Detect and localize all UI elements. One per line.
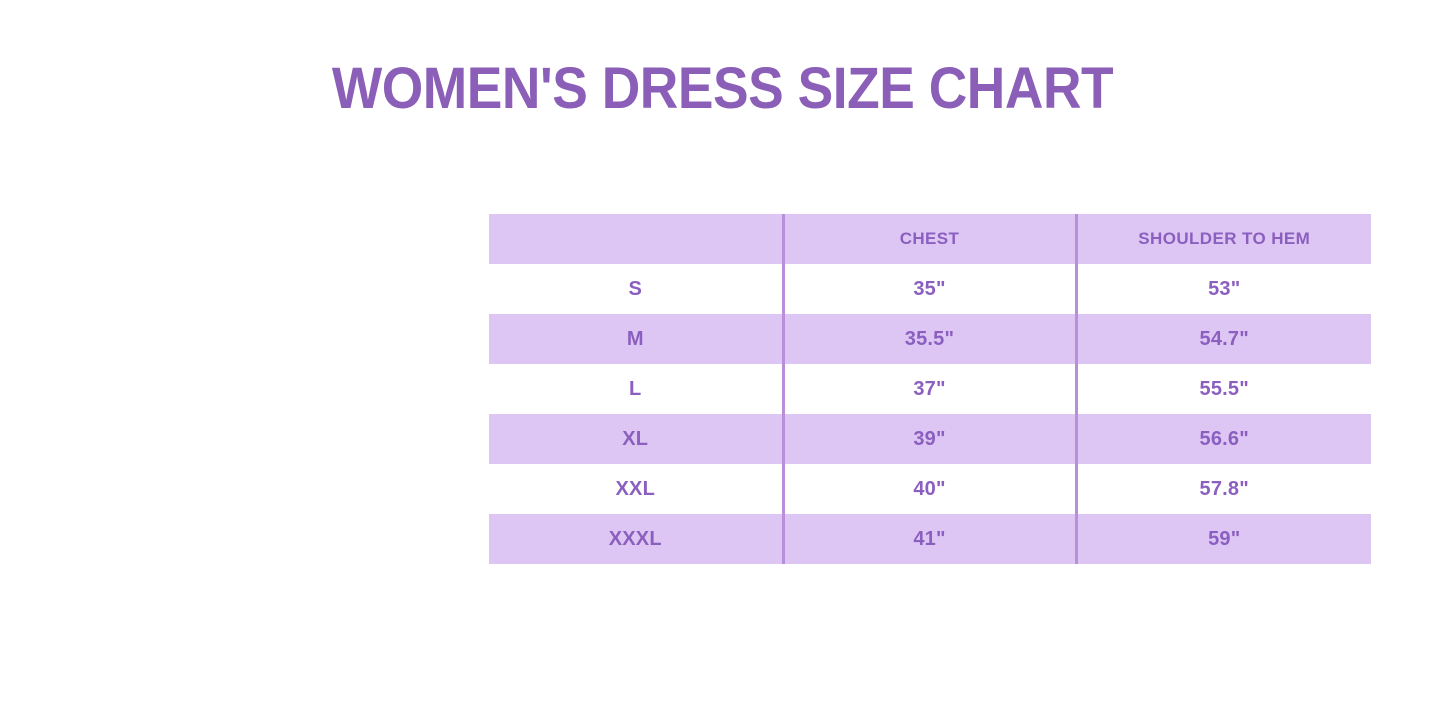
table-row: S 35" 53" xyxy=(489,264,1371,314)
cell-size: S xyxy=(489,264,783,314)
cell-size: M xyxy=(489,314,783,364)
size-chart-table: CHEST SHOULDER TO HEM S 35" 53" M 35.5" … xyxy=(489,214,1371,564)
cell-size: XXXL xyxy=(489,514,783,564)
cell-shoulder-to-hem: 53" xyxy=(1076,264,1371,314)
cell-shoulder-to-hem: 55.5" xyxy=(1076,364,1371,414)
cell-shoulder-to-hem: 57.8" xyxy=(1076,464,1371,514)
cell-shoulder-to-hem: 54.7" xyxy=(1076,314,1371,364)
size-chart-page: WOMEN'S DRESS SIZE CHART CHEST SHOULDER … xyxy=(0,0,1445,723)
cell-chest: 40" xyxy=(783,464,1076,514)
table-row: M 35.5" 54.7" xyxy=(489,314,1371,364)
column-header-chest: CHEST xyxy=(783,214,1076,264)
table-row: XXXL 41" 59" xyxy=(489,514,1371,564)
cell-chest: 37" xyxy=(783,364,1076,414)
cell-shoulder-to-hem: 56.6" xyxy=(1076,414,1371,464)
cell-size: XL xyxy=(489,414,783,464)
cell-size: L xyxy=(489,364,783,414)
table-header: CHEST SHOULDER TO HEM xyxy=(489,214,1371,264)
table-row: XL 39" 56.6" xyxy=(489,414,1371,464)
cell-chest: 35.5" xyxy=(783,314,1076,364)
column-header-shoulder-to-hem: SHOULDER TO HEM xyxy=(1076,214,1371,264)
size-chart-table-container: CHEST SHOULDER TO HEM S 35" 53" M 35.5" … xyxy=(489,214,1371,566)
table-row: L 37" 55.5" xyxy=(489,364,1371,414)
page-title: WOMEN'S DRESS SIZE CHART xyxy=(58,56,1387,123)
cell-size: XXL xyxy=(489,464,783,514)
column-header-size xyxy=(489,214,783,264)
table-body: S 35" 53" M 35.5" 54.7" L 37" 55.5" XL 3… xyxy=(489,264,1371,564)
table-row: XXL 40" 57.8" xyxy=(489,464,1371,514)
cell-chest: 35" xyxy=(783,264,1076,314)
cell-chest: 41" xyxy=(783,514,1076,564)
table-header-row: CHEST SHOULDER TO HEM xyxy=(489,214,1371,264)
cell-chest: 39" xyxy=(783,414,1076,464)
cell-shoulder-to-hem: 59" xyxy=(1076,514,1371,564)
